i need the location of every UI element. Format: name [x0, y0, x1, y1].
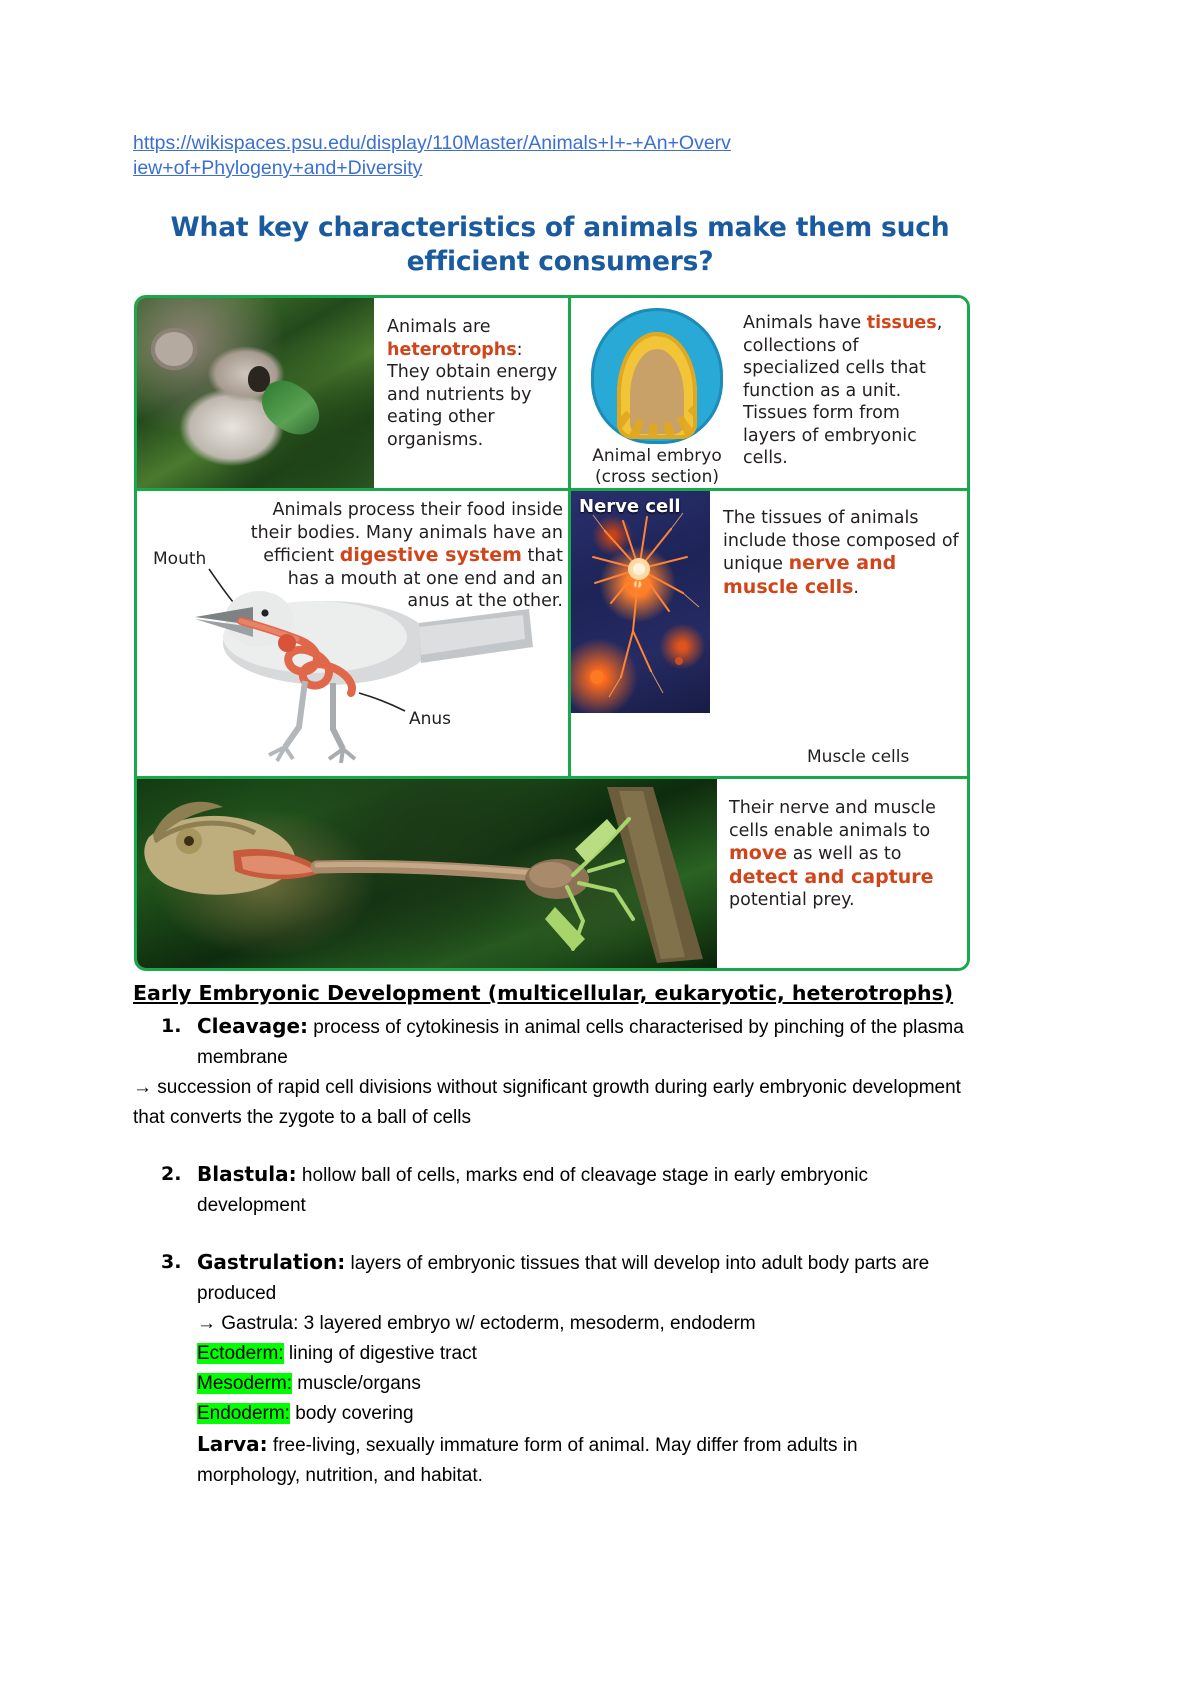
spacer — [133, 1133, 965, 1159]
muscle-cells-caption: Muscle cells — [807, 747, 909, 767]
panel-heterotrophs: Animals are heterotrophs: They obtain en… — [137, 298, 568, 488]
germ-layer-ectoderm-value: lining of digestive tract — [284, 1343, 477, 1364]
germ-layer-mesoderm-label: Mesoderm: — [197, 1373, 292, 1394]
koala-ear — [151, 328, 197, 370]
term-tissues: tissues — [867, 313, 937, 333]
notes-list-3: Gastrulation: layers of embryonic tissue… — [133, 1247, 965, 1491]
nerve-cell-label: Nerve cell — [579, 496, 681, 517]
definition-larva: free-living, sexually immature form of a… — [197, 1435, 858, 1486]
document-page: https://wikispaces.psu.edu/display/110Ma… — [0, 0, 1200, 1698]
text-rest: , collections of specialized cells that … — [743, 313, 942, 468]
list-item-gastrulation: Gastrulation: layers of embryonic tissue… — [197, 1247, 965, 1491]
animal-embryo-cross-section-diagram: Animal embryo (cross section) — [577, 304, 737, 484]
term-detect-capture: detect and capture — [729, 866, 934, 888]
germ-layer-endoderm: Endoderm: body covering — [197, 1399, 965, 1429]
germ-layer-mesoderm: Mesoderm: muscle/organs — [197, 1369, 965, 1399]
germ-layer-ectoderm: Ectoderm: lining of digestive tract — [197, 1339, 965, 1369]
source-url-link[interactable]: https://wikispaces.psu.edu/display/110Ma… — [133, 131, 733, 181]
germ-layer-ectoderm-label: Ectoderm: — [197, 1343, 284, 1364]
koala-eating-eucalyptus-photo — [137, 298, 374, 488]
definition-blastula: hollow ball of cells, marks end of cleav… — [197, 1165, 868, 1216]
larva-note: Larva: free-living, sexually immature fo… — [197, 1429, 965, 1491]
definition-cleavage: process of cytokinesis in animal cells c… — [197, 1017, 964, 1068]
term-larva: Larva: — [197, 1432, 268, 1456]
text-part1: Their nerve and muscle cells enable anim… — [729, 798, 936, 841]
neuron-svg — [571, 491, 710, 713]
text-lead: Animals have — [743, 313, 867, 333]
notes-list-2: Blastula: hollow ball of cells, marks en… — [133, 1159, 965, 1221]
panel-move-text: Their nerve and muscle cells enable anim… — [729, 797, 957, 912]
cleavage-arrow-note: → succession of rapid cell divisions wit… — [133, 1073, 965, 1133]
spacer — [133, 1221, 965, 1247]
notes-list: Cleavage: process of cytokinesis in anim… — [133, 1011, 965, 1073]
embryo-caption-line1: Animal embryo — [577, 446, 737, 467]
text-lead: Animals are — [387, 317, 491, 337]
list-item-blastula: Blastula: hollow ball of cells, marks en… — [197, 1159, 965, 1221]
chameleon-catching-mantis-photo — [137, 779, 717, 968]
bird-svg — [137, 551, 568, 776]
panel-digestive-system: Animals process their food inside their … — [137, 491, 568, 776]
embryo-caption: Animal embryo (cross section) — [577, 446, 737, 488]
term-move: move — [729, 842, 787, 864]
panel-tissues-text: Animals have tissues, collections of spe… — [743, 312, 958, 470]
embryo-endoderm-cells — [617, 332, 696, 438]
panel-nerve-muscle: Nerve cell The tissues of animals includ… — [571, 491, 967, 776]
chameleon-svg — [137, 779, 717, 968]
animal-characteristics-figure: Animals are heterotrophs: They obtain en… — [134, 295, 970, 971]
panel-move-detect-capture: Their nerve and muscle cells enable anim… — [137, 779, 967, 968]
panel-heterotrophs-text: Animals are heterotrophs: They obtain en… — [387, 316, 559, 451]
germ-layer-mesoderm-value: muscle/organs — [292, 1373, 421, 1394]
panel-tissues: Animal embryo (cross section) Animals ha… — [571, 298, 967, 488]
nerve-cell-photo: Nerve cell — [571, 491, 710, 713]
text-part2: as well as to — [787, 844, 901, 864]
notes-section: Early Embryonic Development (multicellul… — [133, 980, 965, 1491]
germ-layer-endoderm-value: body covering — [290, 1403, 414, 1424]
bird-digestive-system-diagram — [137, 551, 568, 776]
text-part3: potential prey. — [729, 890, 855, 910]
gastrula-arrow-note: → Gastrula: 3 layered embryo w/ ectoderm… — [197, 1309, 965, 1339]
embryo-outer-layer — [591, 308, 723, 444]
figure-title: What key characteristics of animals make… — [160, 211, 960, 279]
term-gastrulation: Gastrulation: — [197, 1250, 345, 1274]
term-blastula: Blastula: — [197, 1162, 297, 1186]
list-item-cleavage: Cleavage: process of cytokinesis in anim… — [197, 1011, 965, 1073]
embryo-caption-line2: (cross section) — [577, 467, 737, 488]
koala-nose — [248, 366, 270, 392]
term-cleavage: Cleavage: — [197, 1014, 308, 1038]
term-heterotrophs: heterotrophs — [387, 340, 517, 360]
text-rest: . — [853, 578, 859, 598]
panel-nerve-muscle-text: The tissues of animals include those com… — [723, 507, 961, 599]
notes-heading: Early Embryonic Development (multicellul… — [133, 980, 965, 1007]
germ-layer-endoderm-label: Endoderm: — [197, 1403, 290, 1424]
